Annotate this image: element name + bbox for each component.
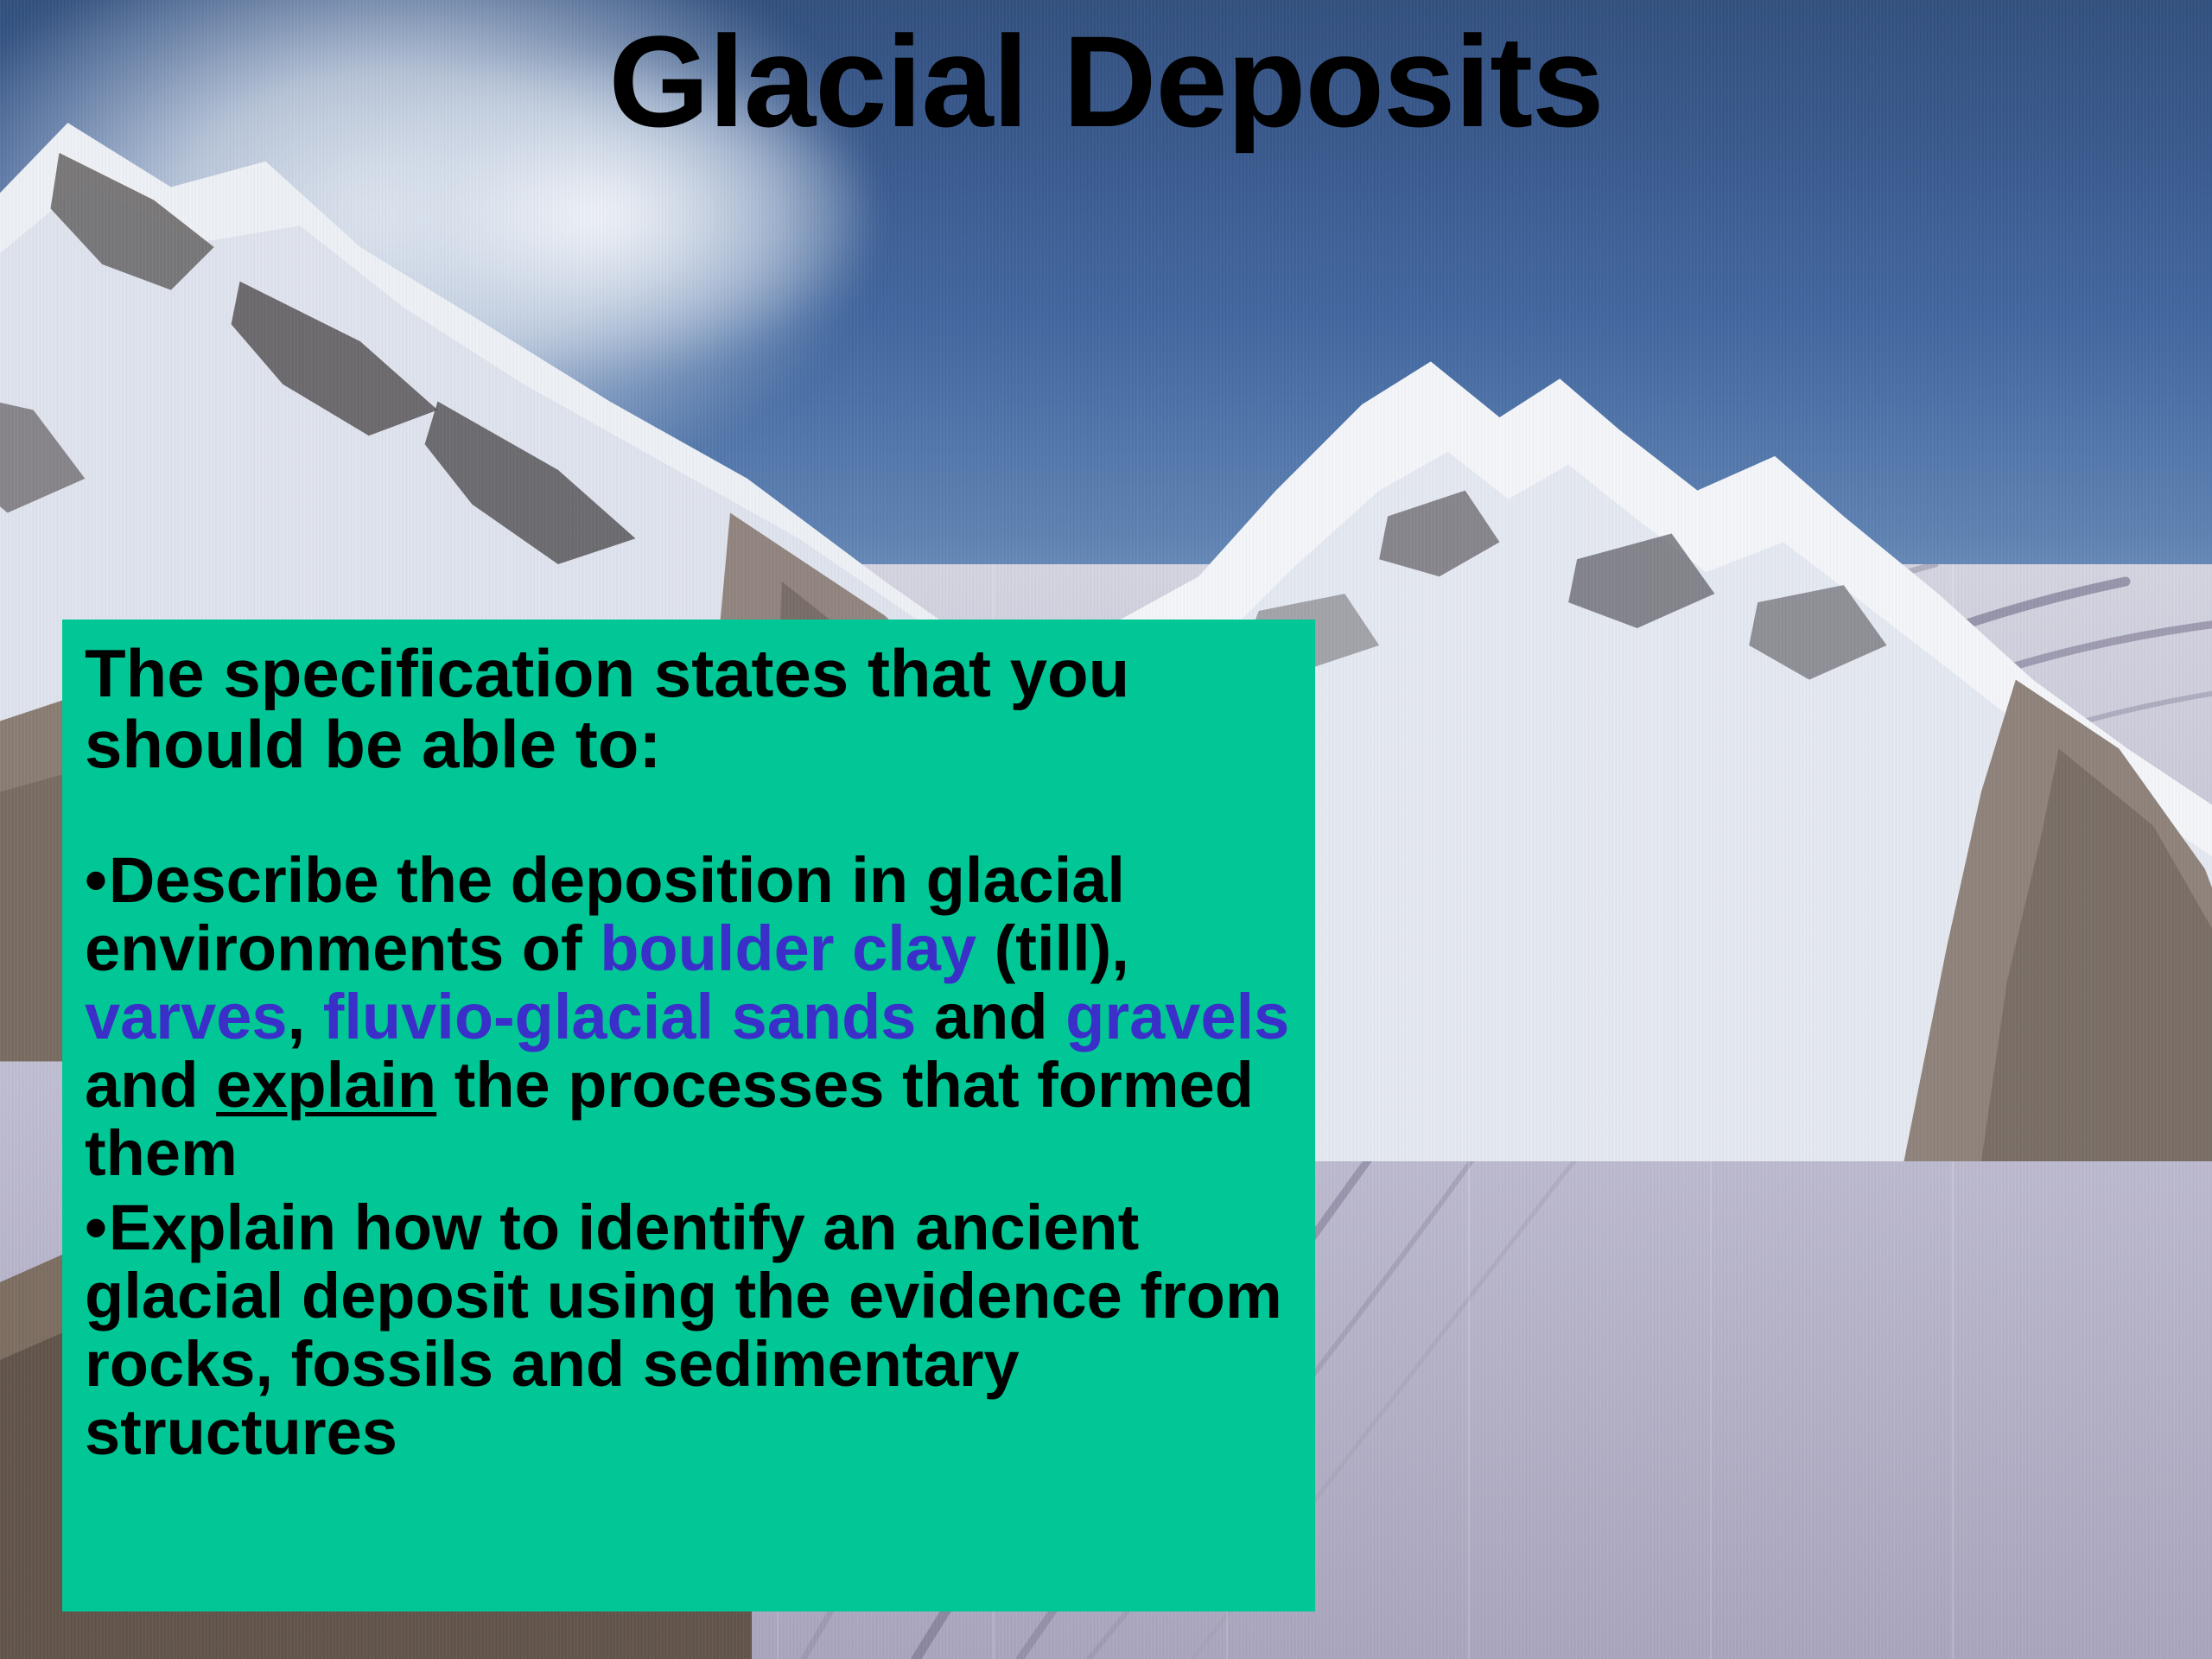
- callout-heading: The specification states that you should…: [85, 639, 1293, 780]
- bullet-keyword: boulder clay: [600, 912, 976, 984]
- bullet-item: •Describe the deposition in glacial envi…: [85, 846, 1293, 1188]
- bullet-marker-icon: •: [85, 844, 107, 916]
- specification-callout-box: The specification states that you should…: [62, 620, 1315, 1611]
- callout-spacer: [85, 780, 1293, 846]
- bullet-list: •Describe the deposition in glacial envi…: [85, 846, 1293, 1467]
- bullet-marker-icon: •: [85, 1192, 107, 1263]
- bullet-text: (till),: [976, 912, 1129, 984]
- bullet-text: ,: [288, 981, 323, 1052]
- slide: Glacial Deposits The specification state…: [0, 0, 2212, 1659]
- bullet-text: and: [916, 981, 1065, 1052]
- page-title: Glacial Deposits: [0, 16, 2212, 148]
- bullet-keyword: varves: [85, 981, 288, 1052]
- bullet-text: Explain how to identify an ancient glaci…: [85, 1192, 1282, 1469]
- bullet-text: and: [85, 1049, 216, 1121]
- bullet-emphasis: explain: [216, 1049, 436, 1121]
- bullet-keyword: fluvio-glacial sands: [323, 981, 917, 1052]
- bullet-keyword: gravels: [1065, 981, 1289, 1052]
- bullet-item: •Explain how to identify an ancient glac…: [85, 1193, 1293, 1467]
